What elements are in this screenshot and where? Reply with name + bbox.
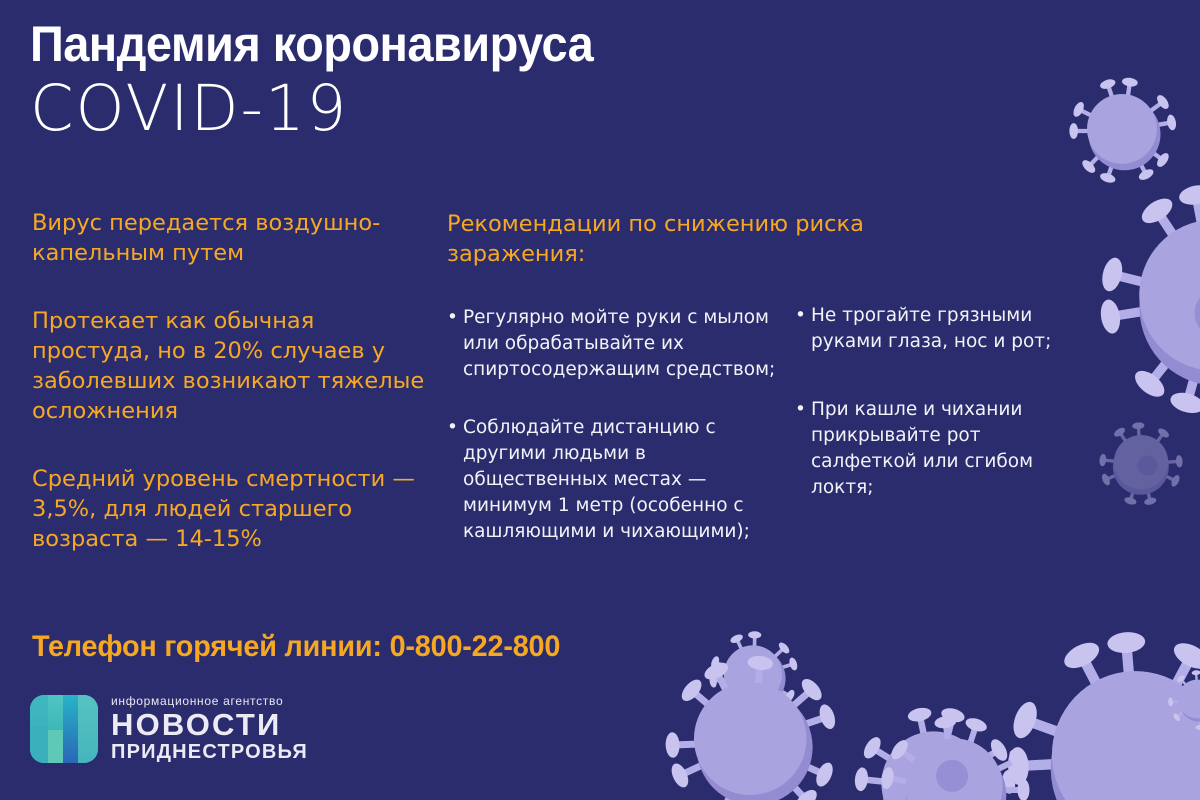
list-item-label: Регулярно мойте руки с мылом или обрабат… (463, 307, 775, 380)
poster-header: Пандемия коронавируса COVID-19 (30, 16, 790, 144)
list-item: • Не трогайте грязными руками глаза, нос… (795, 303, 1065, 355)
bullet-icon: • (795, 397, 806, 423)
list-item: • При кашле и чихании прикрывайте рот са… (795, 397, 1065, 501)
bullet-icon: • (447, 305, 458, 331)
page-subtitle: COVID-19 (30, 74, 782, 144)
agency-logo: информационное агентство НОВОСТИ ПРИДНЕС… (30, 694, 308, 764)
logo-name-secondary: ПРИДНЕСТРОВЬЯ (111, 741, 308, 764)
poster-content: Пандемия коронавируса COVID-19 Вирус пер… (0, 0, 1200, 800)
list-item: • Регулярно мойте руки с мылом или обраб… (447, 305, 787, 383)
logo-mark-icon (30, 695, 98, 763)
fact-item: Вирус передается воздушно-капельным путе… (32, 208, 427, 268)
recommendations-column-right: • Не трогайте грязными руками глаза, нос… (795, 303, 1065, 543)
infographic-poster: Пандемия коронавируса COVID-19 Вирус пер… (0, 0, 1200, 800)
recommendations-heading: Рекомендации по снижению риска заражения… (447, 209, 967, 269)
hotline-text: Телефон горячей линии: 0-800-22-800 (32, 629, 560, 665)
list-item-label: Не трогайте грязными руками глаза, нос и… (811, 305, 1051, 352)
logo-tagline: информационное агентство (111, 694, 308, 708)
bullet-icon: • (795, 303, 806, 329)
page-title: Пандемия коронавируса (30, 16, 744, 72)
logo-wordmark: информационное агентство НОВОСТИ ПРИДНЕС… (111, 694, 308, 764)
fact-item: Средний уровень смертности — 3,5%, для л… (32, 464, 427, 554)
recommendations-column-left: • Регулярно мойте руки с мылом или обраб… (447, 305, 787, 545)
fact-item: Протекает как обычная простуда, но в 20%… (32, 306, 427, 426)
list-item: • Соблюдайте дистанцию с другими людьми … (447, 415, 787, 545)
bullet-icon: • (447, 415, 458, 441)
list-item-label: Соблюдайте дистанцию с другими людьми в … (463, 417, 750, 542)
facts-column: Вирус передается воздушно-капельным путе… (32, 208, 427, 554)
list-item-label: При кашле и чихании прикрывайте рот салф… (811, 399, 1033, 498)
logo-name-primary: НОВОСТИ (111, 708, 308, 741)
